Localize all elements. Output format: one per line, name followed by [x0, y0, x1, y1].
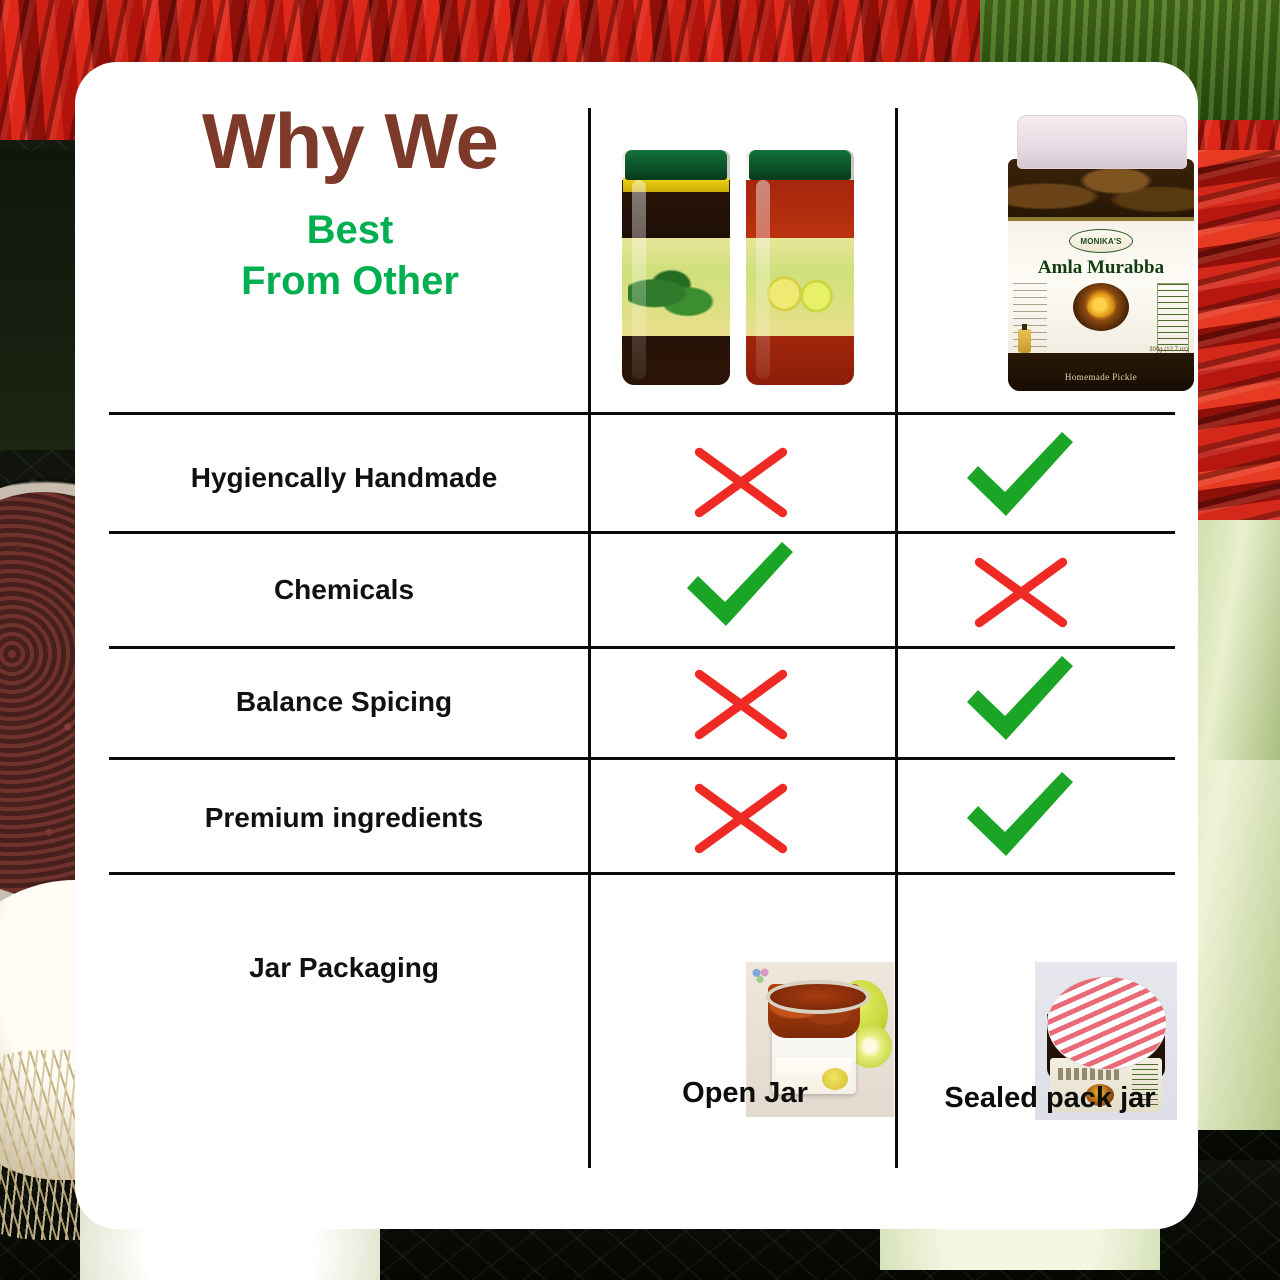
cross-icon-row3-other — [685, 662, 797, 746]
page-title-block: Why We Best From Other — [110, 102, 590, 304]
glass-jar-red — [746, 150, 854, 385]
title-from-other: From Other — [110, 258, 590, 304]
check-icon-row1-ours — [961, 430, 1077, 522]
oil-bottle-icon — [1018, 329, 1031, 353]
column-divider-right — [895, 108, 898, 1168]
foil-seal — [1047, 976, 1167, 1070]
watermark-dots-icon — [752, 968, 770, 984]
jar-foot: Homemade Pickle — [1008, 353, 1194, 391]
row-label-balance-spicing: Balance Spicing — [109, 686, 579, 718]
row-divider-4 — [109, 872, 1175, 875]
page-title: Why We — [110, 102, 590, 180]
jar-lid — [1017, 115, 1187, 169]
cross-icon-row1-other — [685, 440, 797, 524]
cross-icon-row4-other — [685, 776, 797, 860]
row-label-chemicals: Chemicals — [109, 574, 579, 606]
check-icon-row2-other — [681, 540, 797, 632]
check-icon-row4-ours — [961, 770, 1077, 862]
title-best: Best — [110, 210, 590, 250]
row-label-premium-ingredients: Premium ingredients — [109, 802, 579, 834]
row-divider-1 — [109, 531, 1175, 534]
cross-icon-row2-ours — [965, 550, 1077, 634]
product-tagline: Homemade Pickle — [1008, 372, 1194, 382]
product-name: Amla Murabba — [1008, 257, 1194, 279]
jar-label: MONIKA'S Amla Murabba 300g (12.7 oz) — [1008, 217, 1194, 361]
column-divider-left — [588, 108, 591, 1168]
competitor-pickle-jars-photo — [618, 120, 873, 385]
row-label-jar-packaging: Jar Packaging — [109, 952, 579, 984]
glass-jar-dark — [622, 150, 730, 385]
caption-open-jar: Open Jar — [595, 1077, 895, 1110]
jar-body: MONIKA'S Amla Murabba 300g (12.7 oz) Hom… — [1008, 159, 1194, 391]
row-divider-3 — [109, 757, 1175, 760]
row-divider-2 — [109, 646, 1175, 649]
row-label-hygiencally-handmade: Hygiencally Handmade — [109, 462, 579, 494]
caption-sealed-pack-jar: Sealed pack jar — [905, 1082, 1195, 1115]
monikas-amla-murabba-jar-photo: MONIKA'S Amla Murabba 300g (12.7 oz) Hom… — [1008, 115, 1194, 391]
amla-medallion-icon — [1073, 283, 1129, 331]
brand-logo: MONIKA'S — [1069, 229, 1133, 253]
row-divider-0 — [109, 412, 1175, 415]
check-icon-row3-ours — [961, 654, 1077, 746]
comparison-card: Why We Best From Other MONIKA' — [75, 62, 1198, 1229]
